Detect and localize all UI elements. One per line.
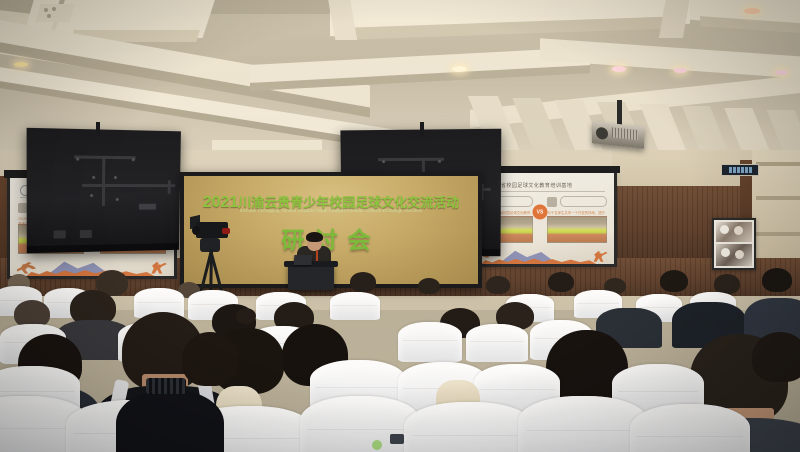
monitor-port-panel [139, 204, 156, 210]
audience-area [0, 268, 800, 452]
slide-panel-after: 与千名师生共享一个开放的场地，提升场地质量和使用率，打造示范工程 [547, 196, 606, 251]
monitor-mount-pole [420, 122, 424, 136]
conference-hall-photo: 云南省校园足球文化教育培训基地 2019年5月，云南省校园足球文化教育培训基地建… [0, 0, 800, 452]
ceiling-monitor-left [27, 128, 181, 253]
attendee-torso [116, 390, 224, 452]
attendee-head [762, 268, 792, 292]
attendee-head [660, 270, 688, 292]
presenter-hair [306, 232, 323, 242]
chair [630, 404, 750, 452]
video-camera-lens [192, 226, 200, 235]
banner-subtitle: 研讨会 [184, 221, 478, 255]
chair [518, 396, 648, 452]
slide-header-text: 云南省校园足球文化教育培训基地 [490, 182, 573, 189]
green-object [372, 440, 382, 450]
wall-display-sign [721, 164, 759, 176]
panel-badge-icon [547, 197, 557, 207]
camera-record-indicator [222, 228, 230, 234]
projector-mount [617, 100, 622, 126]
ceiling-downlight [14, 62, 28, 67]
monitor-mount-pole [96, 122, 100, 136]
attendee-head [714, 274, 740, 294]
banner-headline-en: Sichuan Chongqing Yunnan Guizhou Youth C… [184, 208, 478, 213]
attendee-head [350, 272, 376, 292]
ceiling-downlight [674, 68, 687, 73]
presenter-laptop [293, 255, 312, 265]
ceiling-downlight [452, 66, 467, 72]
ceiling-downlight [612, 66, 626, 72]
dark-object [390, 434, 404, 444]
chair [466, 324, 528, 362]
projector-lens [596, 127, 608, 140]
attendee-head [182, 332, 238, 386]
attendee-head [418, 278, 440, 294]
athlete-silhouette-icon [590, 251, 608, 262]
attendee-head [548, 272, 574, 292]
framed-photo [712, 218, 756, 270]
attendee-head [486, 276, 510, 294]
attendee-head [752, 332, 800, 382]
chair [404, 402, 534, 452]
collar [146, 378, 186, 394]
ceiling-downlight [744, 8, 760, 14]
vs-badge: VS [533, 205, 548, 220]
chair [398, 322, 462, 362]
attendee-hair-bun [236, 308, 256, 324]
ceiling-downlight [775, 70, 788, 75]
chair [330, 292, 380, 320]
projector-vent [612, 127, 638, 140]
panel-photo [547, 216, 606, 243]
